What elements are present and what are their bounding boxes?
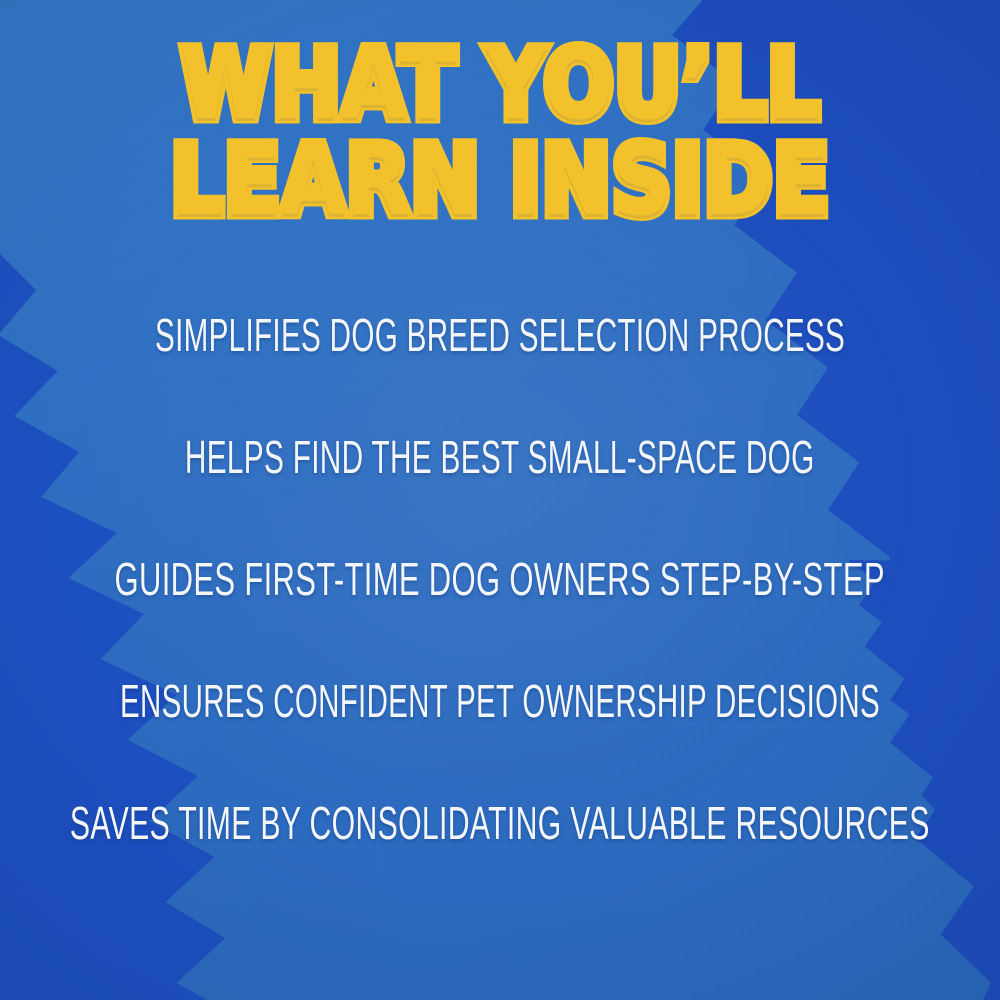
list-item: GUIDES FIRST-TIME DOG OWNERS STEP-BY-STE…: [115, 557, 885, 601]
page-title-line-1: WHAT YOU’LL: [172, 42, 829, 128]
list-item: ENSURES CONFIDENT PET OWNERSHIP DECISION…: [120, 679, 880, 723]
poster-content: WHAT YOU’LL LEARN INSIDE SIMPLIFIES DOG …: [0, 0, 1000, 1000]
page-title: WHAT YOU’LL LEARN INSIDE: [117, 42, 884, 225]
poster-canvas: WHAT YOU’LL LEARN INSIDE SIMPLIFIES DOG …: [0, 0, 1000, 1000]
list-item: SAVES TIME BY CONSOLIDATING VALUABLE RES…: [70, 801, 930, 845]
page-title-line-2: LEARN INSIDE: [170, 138, 830, 224]
list-item: HELPS FIND THE BEST SMALL-SPACE DOG: [185, 435, 815, 479]
list-item: SIMPLIFIES DOG BREED SELECTION PROCESS: [155, 313, 845, 357]
benefit-list: SIMPLIFIES DOG BREED SELECTION PROCESS H…: [0, 313, 1000, 845]
